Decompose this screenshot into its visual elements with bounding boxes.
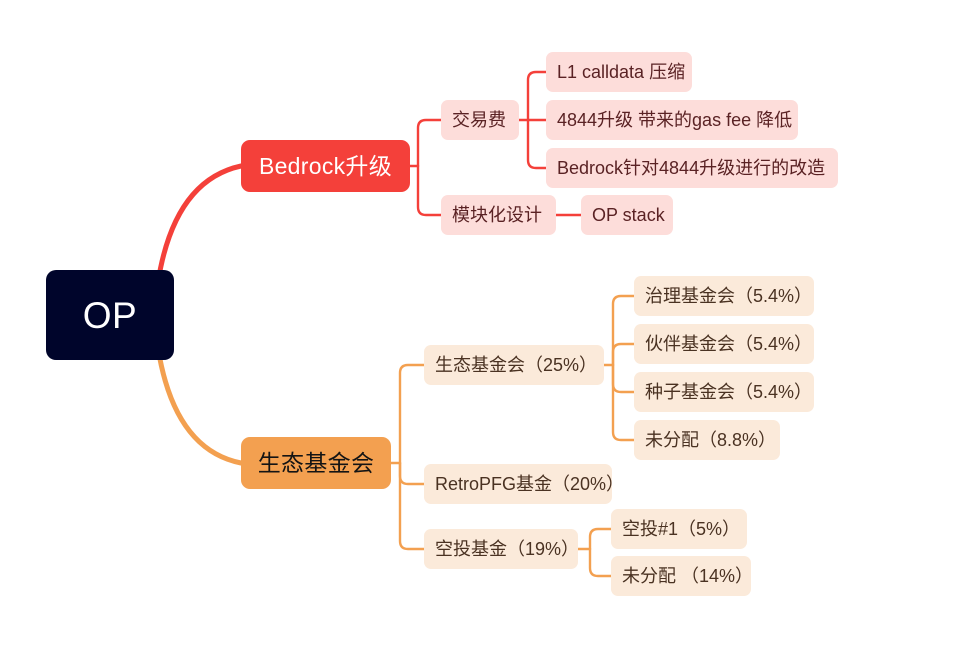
node-transaction-fee-label: 交易费 bbox=[452, 111, 506, 129]
node-unallocated-8-8-label: 未分配（8.8%） bbox=[645, 431, 776, 449]
node-airdrop-fund-label: 空投基金（19%） bbox=[435, 540, 579, 558]
edge-ecofund-leaf-4 bbox=[613, 365, 634, 440]
edge-airdrop-leaf-1 bbox=[590, 529, 611, 549]
node-l1-calldata-compression-label: L1 calldata 压缩 bbox=[557, 63, 685, 81]
node-partner-fund-label: 伙伴基金会（5.4%） bbox=[645, 335, 812, 353]
edge-eco-branch-2 bbox=[400, 463, 424, 484]
node-4844-gas-fee-reduction-label: 4844升级 带来的gas fee 降低 bbox=[557, 111, 792, 129]
node-bedrock-4844-rework[interactable]: Bedrock针对4844升级进行的改造 bbox=[546, 148, 838, 188]
node-op-stack[interactable]: OP stack bbox=[581, 195, 673, 235]
edge-txfee-leaf-3 bbox=[528, 120, 546, 168]
edge-root-to-bedrock bbox=[158, 166, 241, 282]
branch-node-bedrock-label: Bedrock升级 bbox=[259, 155, 392, 178]
edge-root-to-eco bbox=[158, 348, 241, 463]
edge-bedrock-branch-1 bbox=[418, 120, 441, 166]
node-airdrop-1[interactable]: 空投#1（5%） bbox=[611, 509, 747, 549]
edge-bedrock-branch-2 bbox=[418, 166, 441, 215]
node-airdrop-1-label: 空投#1（5%） bbox=[622, 520, 740, 538]
node-transaction-fee[interactable]: 交易费 bbox=[441, 100, 519, 140]
node-eco-fund-25-label: 生态基金会（25%） bbox=[435, 356, 597, 374]
node-retropfg-fund[interactable]: RetroPFG基金（20%） bbox=[424, 464, 612, 504]
node-seed-fund[interactable]: 种子基金会（5.4%） bbox=[634, 372, 814, 412]
branch-node-eco-foundation-label: 生态基金会 bbox=[258, 452, 375, 475]
branch-node-bedrock[interactable]: Bedrock升级 bbox=[241, 140, 410, 192]
node-4844-gas-fee-reduction[interactable]: 4844升级 带来的gas fee 降低 bbox=[546, 100, 798, 140]
edge-ecofund-leaf-3 bbox=[613, 365, 634, 392]
node-governance-fund-label: 治理基金会（5.4%） bbox=[645, 287, 812, 305]
node-unallocated-8-8[interactable]: 未分配（8.8%） bbox=[634, 420, 780, 460]
node-retropfg-fund-label: RetroPFG基金（20%） bbox=[435, 475, 624, 493]
edge-airdrop-leaf-2 bbox=[590, 549, 611, 576]
mindmap-canvas: OP Bedrock升级 交易费 L1 calldata 压缩 4844升级 带… bbox=[0, 0, 962, 655]
root-node-label: OP bbox=[83, 297, 137, 334]
node-modular-design[interactable]: 模块化设计 bbox=[441, 195, 556, 235]
node-op-stack-label: OP stack bbox=[592, 206, 665, 224]
node-modular-design-label: 模块化设计 bbox=[452, 206, 542, 224]
node-airdrop-fund[interactable]: 空投基金（19%） bbox=[424, 529, 578, 569]
node-l1-calldata-compression[interactable]: L1 calldata 压缩 bbox=[546, 52, 692, 92]
edge-ecofund-leaf-1 bbox=[613, 296, 634, 365]
edge-ecofund-leaf-2 bbox=[613, 344, 634, 365]
node-governance-fund[interactable]: 治理基金会（5.4%） bbox=[634, 276, 814, 316]
node-seed-fund-label: 种子基金会（5.4%） bbox=[645, 383, 812, 401]
node-unallocated-14-label: 未分配 （14%） bbox=[622, 567, 753, 585]
node-partner-fund[interactable]: 伙伴基金会（5.4%） bbox=[634, 324, 814, 364]
root-node-op[interactable]: OP bbox=[46, 270, 174, 360]
edge-eco-branch-1 bbox=[400, 365, 424, 463]
node-eco-fund-25[interactable]: 生态基金会（25%） bbox=[424, 345, 604, 385]
node-unallocated-14[interactable]: 未分配 （14%） bbox=[611, 556, 751, 596]
node-bedrock-4844-rework-label: Bedrock针对4844升级进行的改造 bbox=[557, 159, 825, 177]
branch-node-eco-foundation[interactable]: 生态基金会 bbox=[241, 437, 391, 489]
edge-eco-branch-3 bbox=[400, 463, 424, 549]
edge-txfee-leaf-1 bbox=[528, 72, 546, 120]
